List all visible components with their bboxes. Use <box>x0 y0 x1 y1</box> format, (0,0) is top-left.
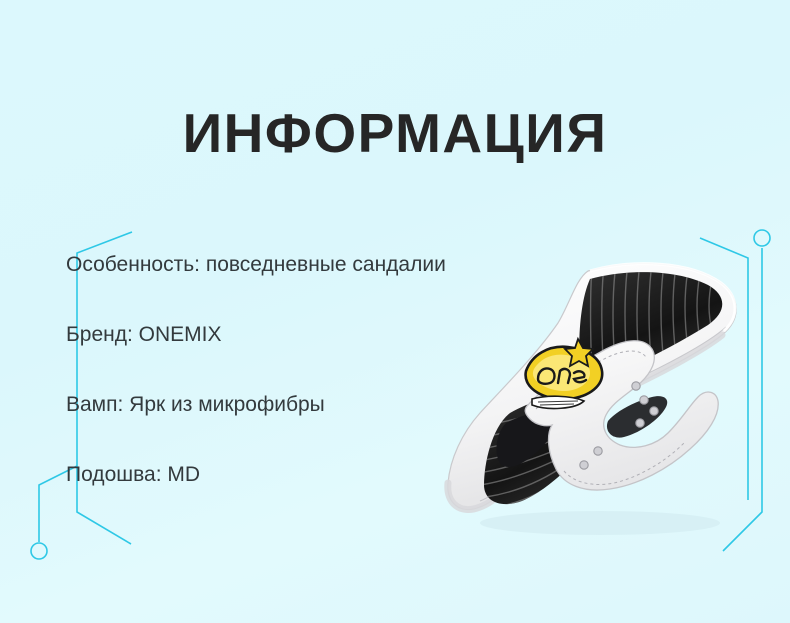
spec-row-sole: Подошва: MD <box>66 462 586 487</box>
shoe-shadow <box>480 511 720 535</box>
information-banner: ИНФОРМАЦИЯ <box>0 0 790 623</box>
spec-row-vamp: Вамп: Ярк из микрофибры <box>66 392 586 462</box>
dot-bottom-left <box>31 543 47 559</box>
dot-top-right <box>754 230 770 246</box>
spec-list: Особенность: повседневные сандалии Бренд… <box>66 252 586 487</box>
page-title: ИНФОРМАЦИЯ <box>0 103 790 164</box>
spec-row-feature: Особенность: повседневные сандалии <box>66 252 586 322</box>
spec-row-brand: Бренд: ONEMIX <box>66 322 586 392</box>
